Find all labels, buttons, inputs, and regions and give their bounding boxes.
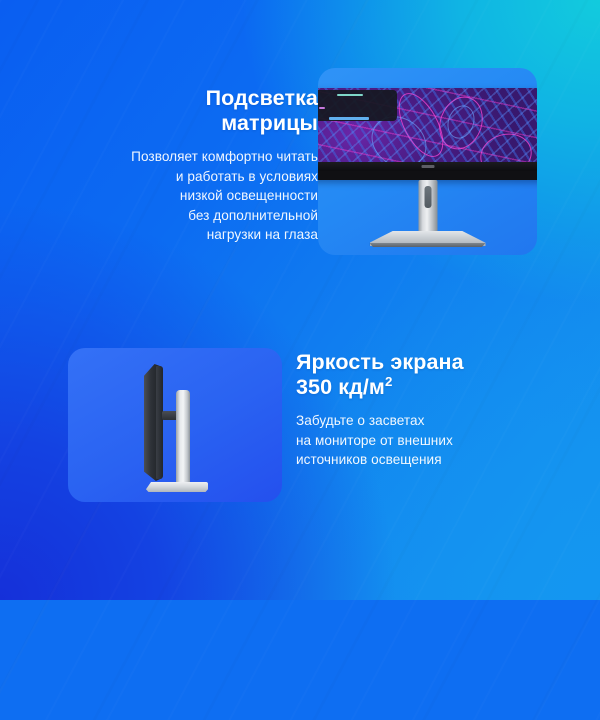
code-editor-overlay	[318, 90, 397, 121]
body-line: без дополнительной	[46, 206, 318, 226]
title-value: 350 кд/м	[296, 375, 385, 399]
body-line: на мониторе от внешних	[296, 431, 562, 451]
monitor-brand-logo	[421, 165, 434, 168]
title-superscript: 2	[385, 374, 393, 389]
feature-card-backlight	[318, 68, 537, 255]
monitor-bezel	[318, 88, 537, 180]
monitor-screen	[318, 88, 537, 171]
feature-body-backlight: Позволяет комфортно читать и работать в …	[46, 147, 318, 245]
body-line: Забудьте о засветах	[296, 411, 562, 431]
monitor-side-view-image	[68, 348, 282, 502]
feature-text-backlight: Подсветка матрицы Позволяет комфортно чи…	[46, 86, 318, 245]
body-line: и работать в условиях	[46, 167, 318, 187]
title-line: Подсветка	[46, 86, 318, 111]
body-line: низкой освещенности	[46, 186, 318, 206]
title-line: 350 кд/м2	[296, 375, 562, 400]
body-line: источников освещения	[296, 450, 562, 470]
monitor-front-view-image	[318, 68, 537, 255]
body-line: Позволяет комфортно читать	[46, 147, 318, 167]
monitor-panel-back	[156, 366, 163, 479]
monitor-stand-base-side	[146, 482, 208, 492]
title-line: Яркость экрана	[296, 350, 562, 375]
cable-management-slot	[424, 186, 431, 208]
feature-body-brightness: Забудьте о засветах на мониторе от внешн…	[296, 411, 562, 470]
monitor-stand-column-side	[176, 390, 190, 487]
body-line: нагрузки на глаза	[46, 225, 318, 245]
feature-card-brightness	[68, 348, 282, 502]
monitor-stand-base-edge	[370, 243, 486, 247]
code-line	[329, 117, 369, 119]
code-line	[337, 94, 363, 96]
feature-text-brightness: Яркость экрана 350 кд/м2 Забудьте о засв…	[296, 350, 562, 470]
code-line	[319, 107, 325, 109]
title-line: матрицы	[46, 111, 318, 136]
feature-title-backlight: Подсветка матрицы	[46, 86, 318, 136]
monitor-chin	[318, 162, 537, 171]
feature-title-brightness: Яркость экрана 350 кд/м2	[296, 350, 562, 400]
